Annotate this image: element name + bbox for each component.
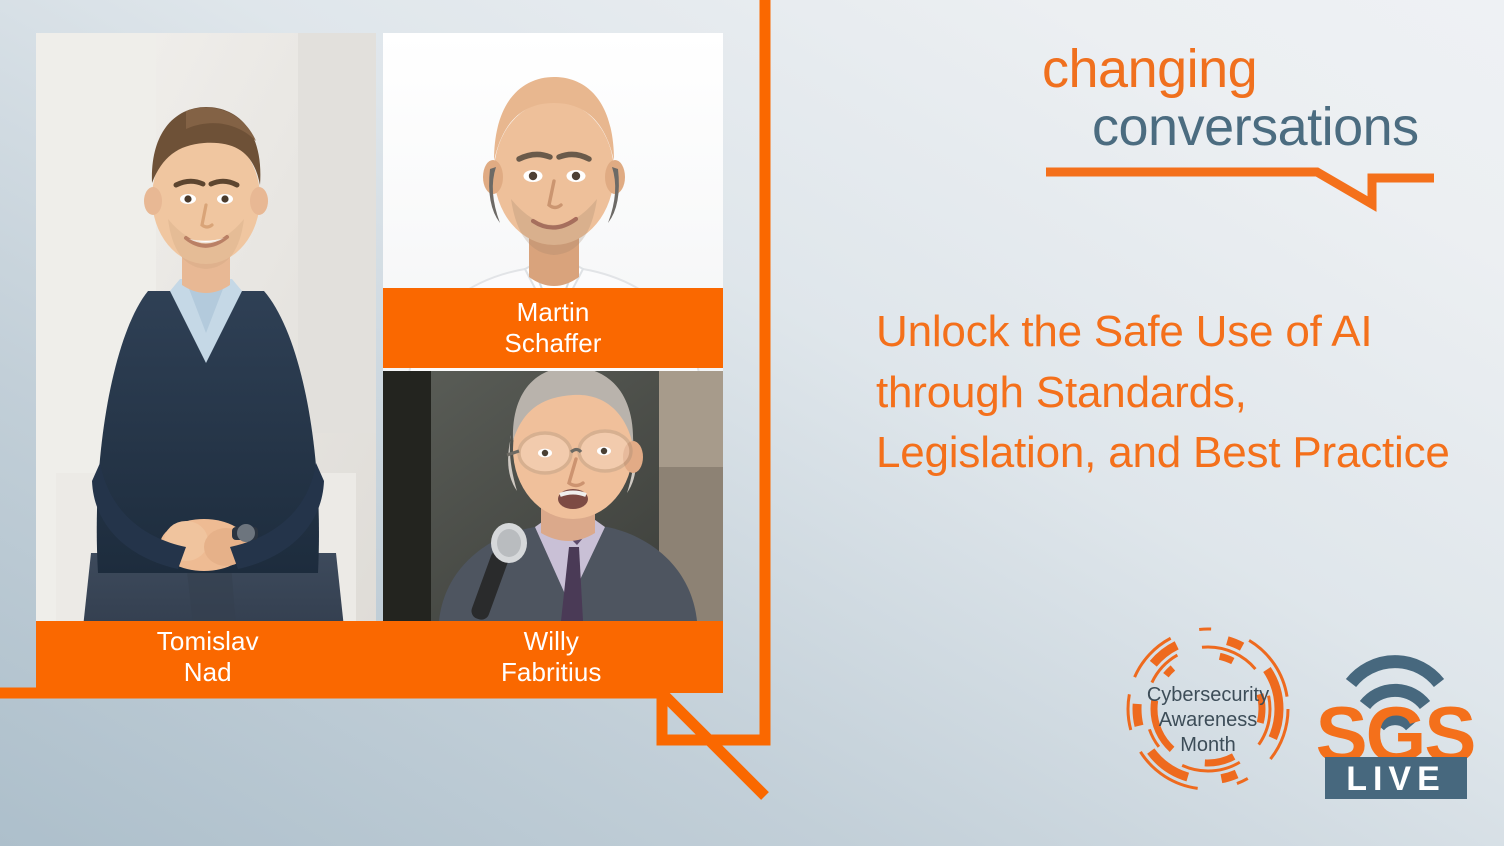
speaker-first-name: Tomislav [157, 626, 259, 657]
cyber-logo-line1: Cybersecurity [1147, 684, 1269, 706]
speaker-last-name: Schaffer [504, 328, 601, 359]
name-band-bottom: Tomislav Nad Willy Fabritius [36, 621, 723, 693]
speaker-last-name: Fabritius [501, 657, 602, 688]
presentation-slide: Martin Schaffer Tomislav Nad Willy Fabri… [0, 0, 1504, 846]
speaker-photo-tomislav-nad [36, 33, 376, 693]
speaker-photo-willy-fabritius [383, 371, 723, 621]
name-band-willy-fabritius: Willy Fabritius [380, 626, 724, 688]
sgs-live-logo: SGS LIVE [1311, 639, 1479, 803]
logo-bubble-rule-icon [1042, 164, 1462, 214]
speaker-first-name: Martin [517, 297, 590, 328]
changing-conversations-logo: changing conversations [1042, 38, 1462, 213]
speaker-last-name: Nad [184, 657, 232, 688]
logo-word-conversations: conversations [1092, 96, 1419, 158]
cyber-logo-line2: Awareness [1159, 709, 1258, 731]
sgs-live-label: LIVE [1346, 760, 1446, 798]
name-band-martin-schaffer: Martin Schaffer [383, 288, 723, 368]
logo-word-changing: changing [1042, 38, 1257, 100]
cybersecurity-awareness-month-logo: Cybersecurity Awareness Month [1122, 623, 1294, 795]
speaker-first-name: Willy [524, 626, 579, 657]
name-band-tomislav-nad: Tomislav Nad [36, 626, 380, 688]
page-title: Unlock the Safe Use of AI through Standa… [876, 302, 1476, 484]
cyber-logo-line3: Month [1180, 734, 1236, 756]
